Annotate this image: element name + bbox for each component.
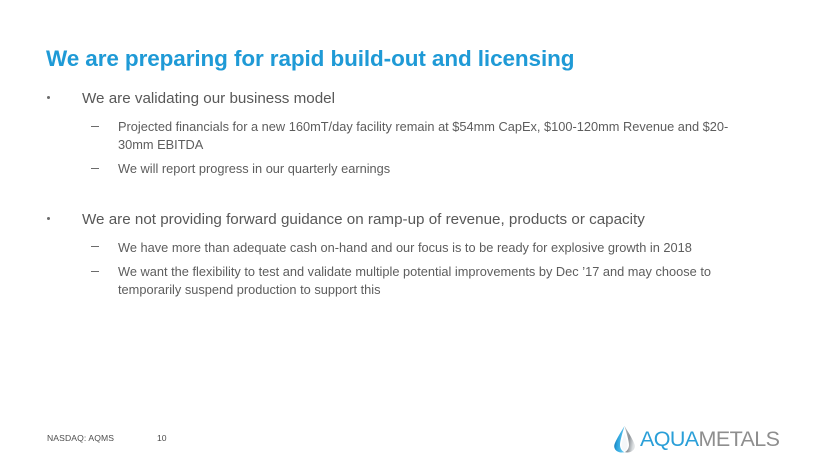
- company-logo: AQUAMETALS: [612, 424, 779, 454]
- bullet-dot-icon: [47, 209, 57, 230]
- bullet-level2: Projected financials for a new 160mT/day…: [0, 118, 820, 153]
- logo-word-primary: AQUA: [640, 427, 699, 451]
- aqua-droplet-icon: [612, 425, 637, 453]
- bullet-level2-label: We have more than adequate cash on-hand …: [118, 239, 754, 257]
- bullet-level1: We are not providing forward guidance on…: [0, 209, 820, 230]
- bullet-dash-icon: [91, 160, 103, 178]
- bullet-group: We are not providing forward guidance on…: [0, 209, 820, 299]
- logo-word-secondary: METALS: [699, 427, 780, 451]
- bullet-dash-icon: [91, 239, 103, 257]
- bullet-level2-label: Projected financials for a new 160mT/day…: [118, 118, 754, 153]
- bullet-level2-label: We want the flexibility to test and vali…: [118, 263, 754, 298]
- bullet-level2: We want the flexibility to test and vali…: [0, 263, 820, 298]
- bullet-group: We are validating our business model Pro…: [0, 88, 820, 178]
- footer-ticker: NASDAQ: AQMS: [47, 432, 114, 444]
- presentation-slide: We are preparing for rapid build-out and…: [0, 0, 820, 461]
- bullet-level2: We have more than adequate cash on-hand …: [0, 239, 820, 257]
- footer-page-number: 10: [157, 432, 167, 444]
- bullet-dot-icon: [47, 88, 57, 109]
- bullet-level1-label: We are not providing forward guidance on…: [82, 211, 645, 228]
- slide-body: We are validating our business model Pro…: [0, 88, 820, 299]
- bullet-dash-icon: [91, 118, 103, 136]
- bullet-level2: We will report progress in our quarterly…: [0, 160, 820, 178]
- bullet-level1-label: We are validating our business model: [82, 90, 335, 107]
- bullet-level2-label: We will report progress in our quarterly…: [118, 160, 754, 178]
- bullet-dash-icon: [91, 263, 103, 281]
- bullet-level1: We are validating our business model: [0, 88, 820, 109]
- page-title: We are preparing for rapid build-out and…: [46, 45, 574, 73]
